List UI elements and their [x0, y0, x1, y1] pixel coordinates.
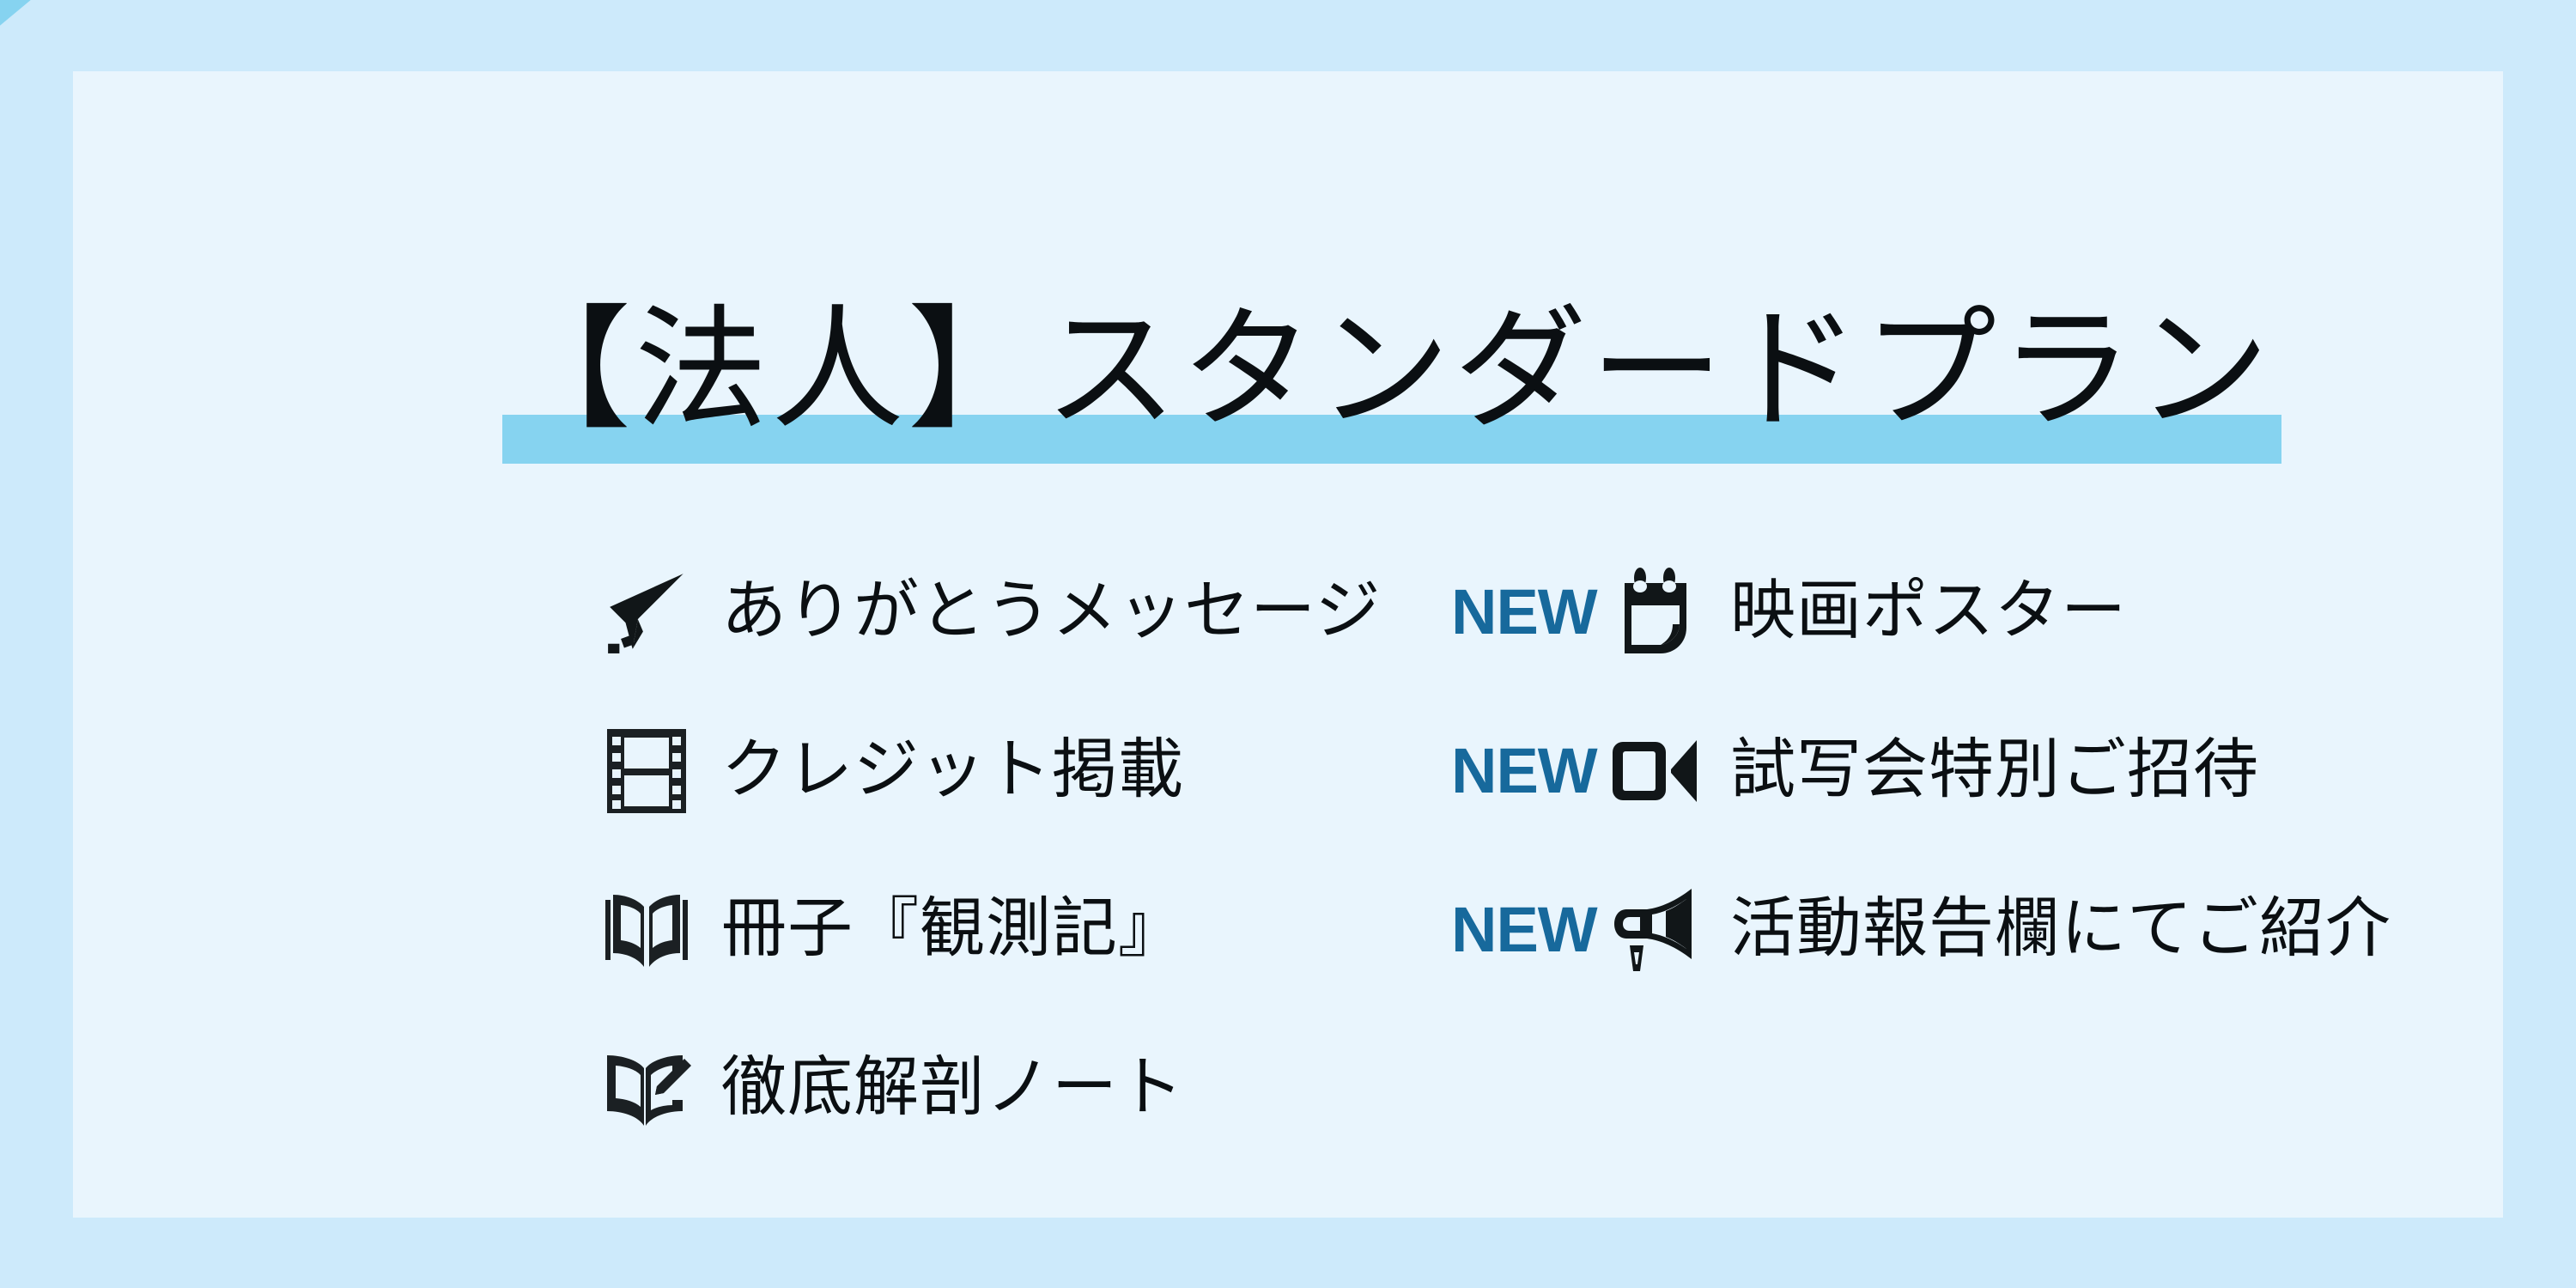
benefits-left-column: ありがとうメッセージ [601, 532, 1460, 1168]
new-badge: NEW [1451, 739, 1610, 803]
film-strip-icon [601, 726, 692, 817]
benefit-row: 徹底解剖ノート [601, 1009, 1460, 1168]
movie-poster-icon [1610, 567, 1701, 658]
paper-plane-send-icon [601, 567, 692, 658]
page-title: 【法人】スタンダードプラン [498, 273, 2301, 479]
benefit-label: 活動報告欄にてご紹介 [1701, 896, 2567, 964]
benefit-row: NEW 試写会特別ご招待 [1451, 691, 2567, 850]
benefits-right-column: NEW 映画ポスター NEW [1451, 532, 2567, 1009]
book-pencil-icon [601, 1043, 692, 1134]
benefit-label: 映画ポスター [1701, 578, 2567, 647]
benefit-row: クレジット掲載 [601, 691, 1460, 850]
video-camera-icon [1610, 726, 1701, 817]
benefit-label: ありがとうメッセージ [692, 578, 1460, 647]
benefit-row: ありがとうメッセージ [601, 532, 1460, 691]
benefit-row: NEW 映画ポスター [1451, 532, 2567, 691]
new-badge: NEW [1451, 898, 1610, 962]
new-badge: NEW [1451, 580, 1610, 644]
benefit-row: 冊子『観測記』 [601, 850, 1460, 1009]
benefit-label: 冊子『観測記』 [692, 896, 1460, 964]
plan-benefits-card: 試写ご招待！ 【法人】スタンダードプラン ありがとうメッセージ [0, 0, 2576, 1288]
benefits-section: ありがとうメッセージ [0, 532, 2576, 1185]
plan-title-block: 【法人】スタンダードプラン [0, 273, 2576, 479]
megaphone-icon [1610, 884, 1701, 975]
benefit-label: 試写会特別ご招待 [1701, 737, 2567, 805]
benefit-row: NEW 活動報告欄にてご紹介 [1451, 850, 2567, 1009]
open-book-icon [601, 884, 692, 975]
benefit-label: 徹底解剖ノート [692, 1054, 1460, 1123]
benefit-label: クレジット掲載 [692, 737, 1460, 805]
